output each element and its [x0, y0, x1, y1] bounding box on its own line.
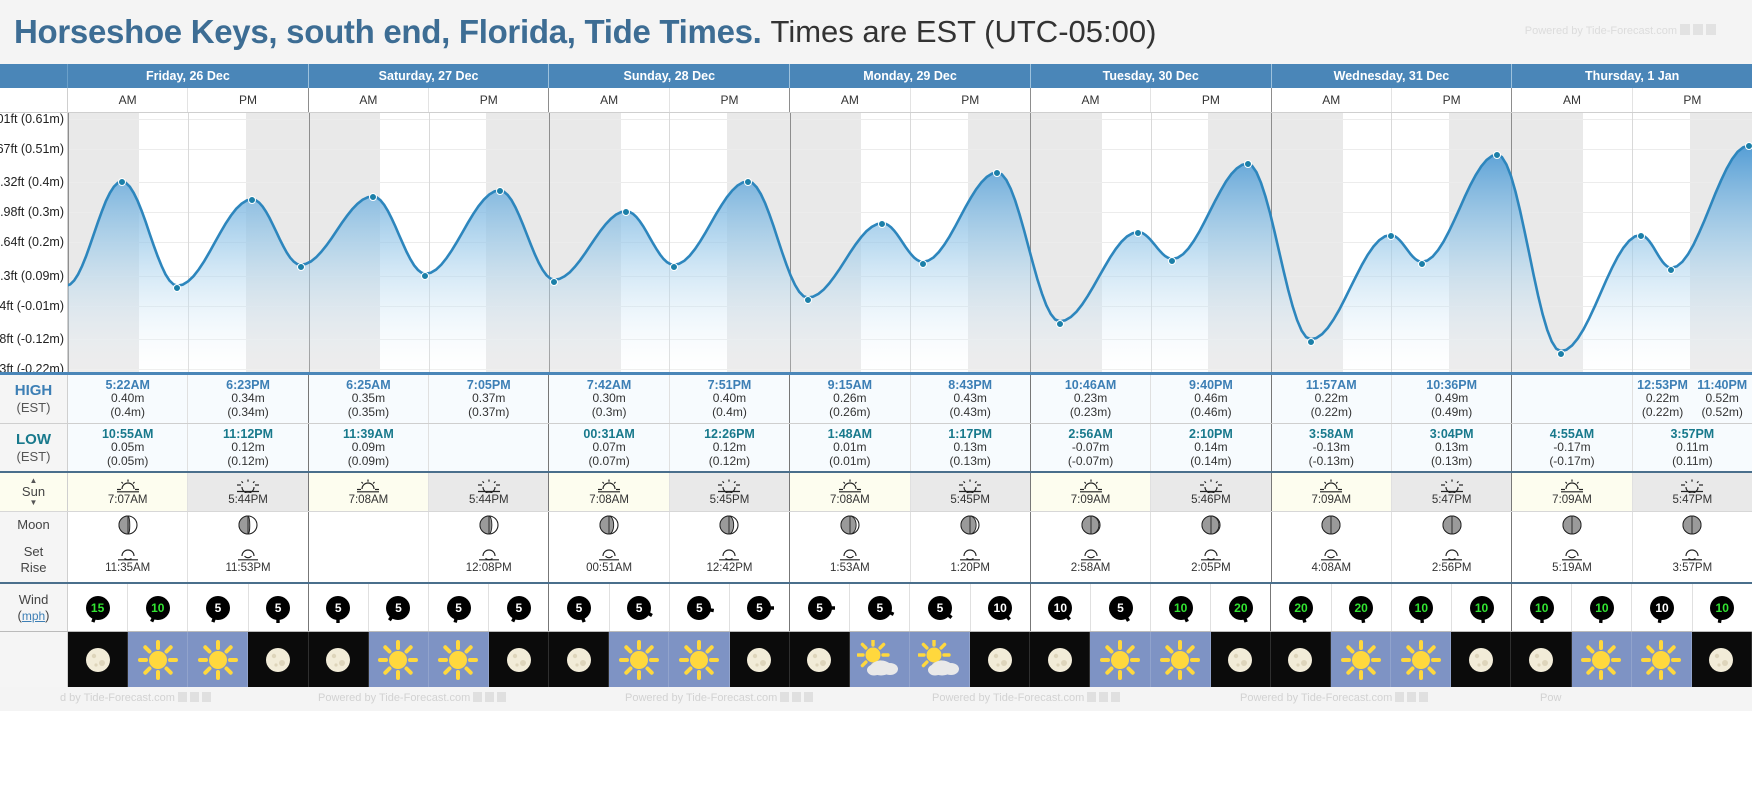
sun-cell-0-am: 7:07AM	[68, 473, 188, 511]
low-tide-height-alt: (0.05m)	[107, 455, 148, 469]
sun-rise-time: 7:09AM	[1311, 494, 1351, 506]
tide-extremum-dot-20	[1387, 232, 1395, 240]
sun-cell-3-am: 7:08AM	[790, 473, 910, 511]
high-tide-cell-6-am	[1512, 375, 1632, 423]
high-tide-row: HIGH (EST) 5:22AM0.40m(0.4m)6:23PM0.34m(…	[0, 375, 1752, 424]
low-tide-cell-6-am: 4:55AM-0.17m(-0.17m)	[1512, 424, 1632, 471]
low-tide-height-alt: (0.11m)	[1672, 455, 1712, 469]
tide-extremum-dot-25	[1667, 266, 1675, 274]
high-tide-cell-4-pm: 9:40PM0.46m(0.46m)	[1151, 375, 1271, 423]
high-tide-height: 0.40m	[670, 392, 789, 406]
moon-cell-2-am	[549, 512, 669, 538]
moon-setrise-cell-4-am: 2:58AM	[1031, 538, 1151, 582]
moon-rise-time: 4:08AM	[1311, 562, 1351, 574]
moon-icon	[258, 640, 298, 680]
moon-label: Moon	[0, 512, 68, 538]
moon-setrise-cell-0-pm: 11:53PM	[188, 538, 308, 582]
tide-extremum-dot-18	[1244, 160, 1252, 168]
wind-speed-badge-15: 10	[988, 596, 1012, 620]
weather-cell-23	[1451, 632, 1511, 687]
moonset-icon	[716, 547, 742, 561]
ampm-pm-1: PM	[429, 88, 548, 112]
moon-cell-3-pm	[911, 512, 1031, 538]
low-tide-height: 0.07m	[592, 441, 625, 455]
high-tide-time: 9:15AM	[790, 378, 909, 392]
wind-unit-link[interactable]: (mph)	[17, 608, 49, 624]
moon-icon	[1521, 640, 1561, 680]
weather-cells	[68, 632, 1752, 687]
moon-phase-icon	[719, 515, 739, 535]
ampm-day-4: AMPM	[1031, 88, 1272, 112]
moon-cell-0-pm	[188, 512, 308, 538]
weather-cell-20	[1271, 632, 1331, 687]
sun-cloud-icon	[918, 640, 962, 680]
tide-extremum-dot-6	[496, 187, 504, 195]
wind-cell-18: 10	[1151, 584, 1211, 631]
day-header-1: Saturday, 27 Dec	[309, 64, 550, 88]
moon-cell-3-am	[790, 512, 910, 538]
wind-cell-16: 10	[1031, 584, 1091, 631]
sun-cell-1-am: 7:08AM	[309, 473, 429, 511]
moon-phase-icon	[599, 515, 619, 535]
moon-phase-icon	[1321, 515, 1341, 535]
y-axis-tick-2: 1.32ft (0.4m)	[0, 175, 64, 189]
sun-cloud-icon	[857, 640, 901, 680]
moon-set-label-text: Set	[24, 544, 44, 560]
y-axis-tick-0: 2.01ft (0.61m)	[0, 113, 64, 126]
moon-cell-2-pm	[670, 512, 790, 538]
low-tide-cell-0-am: 10:55AM0.05m(0.05m)	[68, 424, 188, 471]
tide-extremum-dot-22	[1493, 151, 1501, 159]
low-tide-cell-4-pm: 2:10PM0.14m(0.14m)	[1151, 424, 1271, 471]
sun-cell-1-pm: 5:44PM	[429, 473, 549, 511]
weather-cell-12	[790, 632, 850, 687]
moonrise-icon	[1078, 547, 1104, 561]
weather-cell-11	[730, 632, 790, 687]
wind-speed-badge-4: 5	[326, 596, 350, 620]
low-tide-time: 3:58AM	[1309, 427, 1353, 441]
sunset-icon	[235, 478, 261, 493]
weather-label	[0, 632, 68, 687]
low-tide-time: 2:56AM	[1068, 427, 1112, 441]
moon-rise-label-text: Rise	[20, 560, 46, 576]
ampm-pm-3: PM	[911, 88, 1030, 112]
moon-setrise-cell-3-pm: 1:20PM	[911, 538, 1031, 582]
ampm-day-2: AMPM	[549, 88, 790, 112]
moonset-icon	[957, 547, 983, 561]
low-tide-height: -0.13m	[1313, 441, 1350, 455]
wind-speed-badge-11: 5	[747, 596, 771, 620]
high-tide-height-alt: (0.35m)	[309, 406, 428, 420]
sun-set-time: 5:46PM	[1191, 494, 1231, 506]
y-axis-tick-1: 1.67ft (0.51m)	[0, 142, 64, 156]
low-tide-height: 0.12m	[713, 441, 746, 455]
wind-cell-10: 5	[670, 584, 730, 631]
moon-icon	[799, 640, 839, 680]
high-tide-height-alt: (0.3m)	[549, 406, 668, 420]
high-tide-time: 7:51PM	[670, 378, 789, 392]
wind-speed-badge-0: 15	[86, 596, 110, 620]
wind-cell-21: 20	[1332, 584, 1392, 631]
weather-cell-22	[1391, 632, 1451, 687]
wind-row: Wind (mph) 15105555555555555101051020202…	[0, 584, 1752, 632]
moon-phase-icon	[1081, 515, 1101, 535]
sun-icon	[1341, 640, 1381, 680]
sun-rise-time: 7:09AM	[1552, 494, 1592, 506]
wind-speed-badge-21: 20	[1349, 596, 1373, 620]
tide-extremum-dot-16	[1134, 229, 1142, 237]
high-tide-cell-4-am: 10:46AM0.23m(0.23m)	[1031, 375, 1151, 423]
weather-cell-0	[68, 632, 128, 687]
sun-rise-time: 7:08AM	[589, 494, 629, 506]
high-tide-height: 0.49m	[1392, 392, 1511, 406]
low-tide-label: LOW (EST)	[0, 424, 68, 471]
y-axis-tick-8: -0.73ft (-0.22m)	[0, 362, 64, 372]
sun-cell-3-pm: 5:45PM	[911, 473, 1031, 511]
sun-icon	[378, 640, 418, 680]
wind-cell-11: 5	[730, 584, 790, 631]
high-tide-height: 0.46m	[1151, 392, 1270, 406]
wind-cell-6: 5	[429, 584, 489, 631]
sun-rise-time: 7:09AM	[1071, 494, 1111, 506]
sun-set-time: 5:44PM	[469, 494, 509, 506]
high-tide-time: 8:43PM	[911, 378, 1030, 392]
day-header-3: Monday, 29 Dec	[790, 64, 1031, 88]
high-tide-cell-3-pm: 8:43PM0.43m(0.43m)	[911, 375, 1031, 423]
sunset-icon	[476, 478, 502, 493]
weather-row	[0, 632, 1752, 687]
sun-cell-4-am: 7:09AM	[1031, 473, 1151, 511]
moonrise-icon	[1318, 547, 1344, 561]
low-tide-height-alt: (0.13m)	[1431, 455, 1472, 469]
wind-speed-badge-20: 20	[1289, 596, 1313, 620]
low-tide-row: LOW (EST) 10:55AM0.05m(0.05m)11:12PM0.12…	[0, 424, 1752, 473]
moon-setrise-cell-0-am: 11:35AM	[68, 538, 188, 582]
day-header-4: Tuesday, 30 Dec	[1031, 64, 1272, 88]
low-tide-height: 0.05m	[111, 441, 144, 455]
sun-rise-time: 7:07AM	[108, 494, 148, 506]
wind-speed-badge-1: 10	[146, 596, 170, 620]
weather-cell-15	[970, 632, 1030, 687]
tide-extremum-dot-14	[993, 169, 1001, 177]
sun-icon	[1401, 640, 1441, 680]
moon-setrise-cell-2-pm: 12:42PM	[670, 538, 790, 582]
ampm-pm-5: PM	[1392, 88, 1511, 112]
ampm-pm-0: PM	[188, 88, 307, 112]
wind-speed-badge-14: 5	[928, 596, 952, 620]
moon-phase-icon	[960, 515, 980, 535]
y-axis-tick-6: -0.04ft (-0.01m)	[0, 299, 64, 313]
moonrise-icon	[837, 547, 863, 561]
tide-extremum-dot-23	[1557, 350, 1565, 358]
sunrise-icon	[1318, 478, 1344, 493]
high-tide-time: 11:57AM	[1272, 378, 1391, 392]
ampm-am-0: AM	[68, 88, 188, 112]
ampm-header-row: AMPMAMPMAMPMAMPMAMPMAMPMAMPM	[0, 88, 1752, 113]
tide-extremum-dot-17	[1168, 257, 1176, 265]
moon-rise-time: 00:51AM	[586, 562, 632, 574]
moon-setrise-cell-5-am: 4:08AM	[1272, 538, 1392, 582]
moon-phase-icon	[840, 515, 860, 535]
moon-cell-5-pm	[1392, 512, 1512, 538]
day-header-gutter	[0, 64, 68, 88]
ampm-pm-2: PM	[670, 88, 789, 112]
ampm-day-1: AMPM	[309, 88, 550, 112]
moon-setrise-cell-5-pm: 2:56PM	[1392, 538, 1512, 582]
footer-powered-4: Powered by Tide-Forecast.com	[932, 692, 1120, 704]
moon-setrise-cell-1-am	[309, 538, 429, 582]
footer-powered-3: Powered by Tide-Forecast.com	[625, 692, 813, 704]
low-tide-cell-3-pm: 1:17PM0.13m(0.13m)	[911, 424, 1031, 471]
low-tide-cell-3-am: 1:48AM0.01m(0.01m)	[790, 424, 910, 471]
moon-setrise-row: Set Rise 11:35AM11:53PM12:08PM00:51AM12:…	[0, 538, 1752, 584]
moon-label-text: Moon	[17, 517, 50, 533]
wind-speed-badge-10: 5	[687, 596, 711, 620]
sunrise-icon	[115, 478, 141, 493]
moon-icon	[980, 640, 1020, 680]
sun-cell-2-am: 7:08AM	[549, 473, 669, 511]
high-tide-cell-0-pm: 6:23PM0.34m(0.34m)	[188, 375, 308, 423]
low-tide-cell-1-pm	[429, 424, 549, 471]
moonrise-icon	[596, 547, 622, 561]
sun-set-time: 5:45PM	[950, 494, 990, 506]
wind-speed-badge-26: 10	[1650, 596, 1674, 620]
high-tide-height-alt: (0.37m)	[429, 406, 548, 420]
ampm-am-3: AM	[790, 88, 910, 112]
ampm-am-6: AM	[1512, 88, 1632, 112]
low-tide-time: 3:04PM	[1430, 427, 1474, 441]
weather-cell-6	[429, 632, 489, 687]
wind-speed-badge-8: 5	[567, 596, 591, 620]
weather-cell-7	[489, 632, 549, 687]
moon-rise-time: 1:53AM	[830, 562, 870, 574]
ampm-header-gutter	[0, 88, 68, 112]
tide-extremum-dot-0	[118, 178, 126, 186]
tide-extremum-dot-21	[1418, 260, 1426, 268]
high-tide-height-alt: (0.23m)	[1031, 406, 1150, 420]
sun-icon	[198, 640, 238, 680]
low-tide-time: 12:26PM	[704, 427, 755, 441]
high-tide-height: 0.35m	[309, 392, 428, 406]
wind-speed-badge-27: 10	[1710, 596, 1734, 620]
low-tide-time: 10:55AM	[102, 427, 153, 441]
low-tide-height-alt: (0.12m)	[709, 455, 750, 469]
moon-icon	[78, 640, 118, 680]
weather-cell-5	[369, 632, 429, 687]
tide-extremum-dot-7	[550, 278, 558, 286]
low-tide-time: 1:17PM	[948, 427, 992, 441]
wind-cell-27: 10	[1693, 584, 1752, 631]
moon-rise-time: 11:53PM	[225, 562, 270, 574]
y-axis-tick-7: -0.38ft (-0.12m)	[0, 332, 64, 346]
high-tide-height: 0.37m	[429, 392, 548, 406]
wind-cell-25: 10	[1572, 584, 1632, 631]
powered-by-top: Powered by Tide-Forecast.com	[1525, 24, 1716, 37]
moon-setrise-cell-1-pm: 12:08PM	[429, 538, 549, 582]
tide-extremum-dot-19	[1307, 338, 1315, 346]
moonset-icon	[1679, 547, 1705, 561]
wind-cell-23: 10	[1452, 584, 1512, 631]
moon-icon	[1220, 640, 1260, 680]
weather-cell-26	[1632, 632, 1692, 687]
wind-label-text: Wind	[19, 592, 49, 608]
low-tide-height: 0.01m	[833, 441, 866, 455]
weather-cell-27	[1692, 632, 1752, 687]
wind-cell-7: 5	[489, 584, 549, 631]
wind-cell-14: 5	[910, 584, 970, 631]
sun-set-time: 5:45PM	[710, 494, 750, 506]
wind-cell-13: 5	[850, 584, 910, 631]
sun-rise-time: 7:08AM	[349, 494, 389, 506]
sunrise-icon	[596, 478, 622, 493]
wind-cell-20: 20	[1271, 584, 1331, 631]
wind-speed-badge-18: 10	[1169, 596, 1193, 620]
high-tide-height-alt: (0.26m)	[790, 406, 909, 420]
day-header-0: Friday, 26 Dec	[68, 64, 309, 88]
moon-phase-icon	[1562, 515, 1582, 535]
tide-extremum-dot-24	[1637, 232, 1645, 240]
moonrise-icon	[1559, 547, 1585, 561]
weather-cell-14	[910, 632, 970, 687]
wind-cell-19: 20	[1211, 584, 1271, 631]
high-tide-height: 0.26m	[790, 392, 909, 406]
high-tide-label: HIGH (EST)	[0, 375, 68, 423]
low-tide-height-alt: (0.09m)	[348, 455, 389, 469]
tide-graph: 2.01ft (0.61m)1.67ft (0.51m)1.32ft (0.4m…	[0, 113, 1752, 375]
low-tide-height-alt: (-0.13m)	[1309, 455, 1354, 469]
moon-set-time: 12:08PM	[466, 562, 512, 574]
high-tide-time: 5:22AM	[68, 378, 187, 392]
wind-cell-1: 10	[128, 584, 188, 631]
low-tide-height-alt: (0.12m)	[227, 455, 268, 469]
wind-cell-9: 5	[610, 584, 670, 631]
high-tide-cell-5-pm: 10:36PM0.49m(0.49m)	[1392, 375, 1512, 423]
tide-extremum-dot-3	[297, 263, 305, 271]
low-tide-height: -0.17m	[1553, 441, 1590, 455]
sun-set-time: 5:47PM	[1673, 494, 1713, 506]
low-tide-cell-2-am: 00:31AM0.07m(0.07m)	[549, 424, 669, 471]
day-header-row: Friday, 26 DecSaturday, 27 DecSunday, 28…	[0, 64, 1752, 88]
weather-cell-21	[1331, 632, 1391, 687]
moon-set-time: 1:20PM	[950, 562, 990, 574]
moon-icon	[559, 640, 599, 680]
footer: d by Tide-Forecast.com Powered by Tide-F…	[0, 687, 1752, 711]
tide-curve-plot	[68, 113, 1752, 372]
weather-cell-1	[128, 632, 188, 687]
moon-rise-time: 5:19AM	[1552, 562, 1592, 574]
high-tide-cell-1-am: 6:25AM0.35m(0.35m)	[309, 375, 429, 423]
sunrise-icon	[1559, 478, 1585, 493]
wind-cell-2: 5	[188, 584, 248, 631]
moon-row: Moon	[0, 512, 1752, 538]
high-tide-height: 0.52m	[1692, 392, 1752, 406]
high-unit-text: (EST)	[17, 400, 51, 416]
wind-speed-badge-19: 20	[1229, 596, 1253, 620]
high-label-text: HIGH	[15, 382, 53, 400]
high-tide-time: 6:23PM	[188, 378, 307, 392]
wind-speed-badge-22: 10	[1409, 596, 1433, 620]
ampm-am-4: AM	[1031, 88, 1151, 112]
moon-rise-time: 2:58AM	[1071, 562, 1111, 574]
low-tide-cells: 10:55AM0.05m(0.05m)11:12PM0.12m(0.12m)11…	[68, 424, 1752, 471]
sun-icon	[1641, 640, 1681, 680]
low-tide-height: 0.14m	[1194, 441, 1227, 455]
wind-speed-badge-5: 5	[386, 596, 410, 620]
moonrise-icon	[235, 547, 261, 561]
title-bar: Horseshoe Keys, south end, Florida, Tide…	[0, 0, 1752, 64]
wind-cell-15: 10	[971, 584, 1031, 631]
high-tide-height: 0.43m	[911, 392, 1030, 406]
tide-extremum-dot-13	[919, 260, 927, 268]
moon-cell-4-pm	[1151, 512, 1271, 538]
sun-icon	[1160, 640, 1200, 680]
moon-icon	[1040, 640, 1080, 680]
sunrise-icon	[1078, 478, 1104, 493]
high-tide-height-alt: (0.46m)	[1151, 406, 1270, 420]
high-tide-time: 10:36PM	[1392, 378, 1511, 392]
moon-cell-6-pm	[1633, 512, 1752, 538]
sun-icon	[619, 640, 659, 680]
moon-set-time: 11:35AM	[105, 562, 150, 574]
sunrise-icon	[837, 478, 863, 493]
ampm-pm-6: PM	[1633, 88, 1752, 112]
sunset-icon	[716, 478, 742, 493]
weather-cell-2	[188, 632, 248, 687]
moon-cell-1-am	[309, 512, 429, 538]
high-tide-time: 12:53PM	[1633, 378, 1693, 392]
high-tide-height-alt: (0.22m)	[1272, 406, 1391, 420]
low-label-text: LOW	[16, 431, 51, 449]
tide-extremum-dot-4	[369, 193, 377, 201]
moon-setrise-label: Set Rise	[0, 538, 68, 582]
moonset-icon	[1439, 547, 1465, 561]
sun-icon	[679, 640, 719, 680]
sunset-icon	[957, 478, 983, 493]
moon-cell-6-am	[1512, 512, 1632, 538]
day-header-2: Sunday, 28 Dec	[549, 64, 790, 88]
moon-phase-icon	[1201, 515, 1221, 535]
moon-phase-icon	[479, 515, 499, 535]
sun-cell-4-pm: 5:46PM	[1151, 473, 1271, 511]
high-tide-time: 7:42AM	[549, 378, 668, 392]
high-tide-height: 0.34m	[188, 392, 307, 406]
low-tide-cell-6-pm: 3:57PM0.11m(0.11m)	[1633, 424, 1752, 471]
sun-cells: 7:07AM5:44PM7:08AM5:44PM7:08AM5:45PM7:08…	[68, 473, 1752, 511]
low-tide-cell-1-am: 11:39AM0.09m(0.09m)	[309, 424, 429, 471]
low-tide-height-alt: (0.01m)	[829, 455, 870, 469]
high-tide-height-alt: (0.49m)	[1392, 406, 1511, 420]
high-tide-time: 11:40PM	[1692, 378, 1752, 392]
wind-cell-24: 10	[1512, 584, 1572, 631]
sunset-icon	[1439, 478, 1465, 493]
sun-cell-5-am: 7:09AM	[1272, 473, 1392, 511]
high-tide-height-alt: (0.43m)	[911, 406, 1030, 420]
day-header-5: Wednesday, 31 Dec	[1272, 64, 1513, 88]
wind-cell-3: 5	[249, 584, 309, 631]
moon-phase-icon	[238, 515, 258, 535]
sun-cell-6-am: 7:09AM	[1512, 473, 1632, 511]
y-axis-tick-4: 0.64ft (0.2m)	[0, 235, 64, 249]
high-tide-height-alt: (0.22m)	[1633, 406, 1693, 420]
wind-speed-badge-12: 5	[808, 596, 832, 620]
tide-extremum-dot-26	[1745, 142, 1752, 150]
low-tide-time: 1:48AM	[828, 427, 872, 441]
high-tide-height: 0.22m	[1272, 392, 1391, 406]
high-tide-height: 0.30m	[549, 392, 668, 406]
low-tide-time: 11:39AM	[343, 427, 394, 441]
ampm-pm-4: PM	[1151, 88, 1270, 112]
moon-cell-5-am	[1272, 512, 1392, 538]
